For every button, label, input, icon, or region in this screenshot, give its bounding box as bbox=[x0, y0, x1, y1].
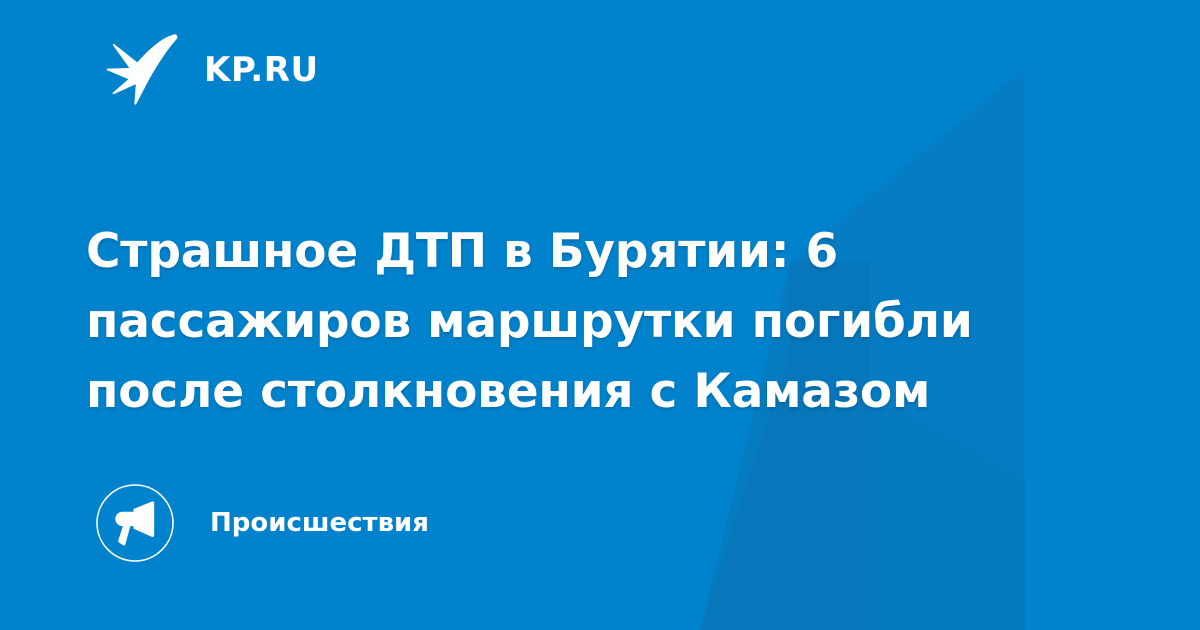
rubric-label: Происшествия bbox=[210, 510, 429, 536]
kp-swallow-bird-logo-icon bbox=[104, 34, 182, 106]
megaphone-icon bbox=[95, 483, 175, 563]
page-title: Страшное ДТП в Бурятии: 6 пассажиров мар… bbox=[86, 217, 1036, 427]
brand-name-label: KP.RU bbox=[204, 53, 319, 87]
rubric-block[interactable]: Происшествия bbox=[95, 483, 429, 563]
brand-logo-block[interactable]: KP.RU bbox=[104, 34, 319, 106]
social-share-card: KP.RU Страшное ДТП в Бурятии: 6 пассажир… bbox=[0, 0, 1200, 630]
